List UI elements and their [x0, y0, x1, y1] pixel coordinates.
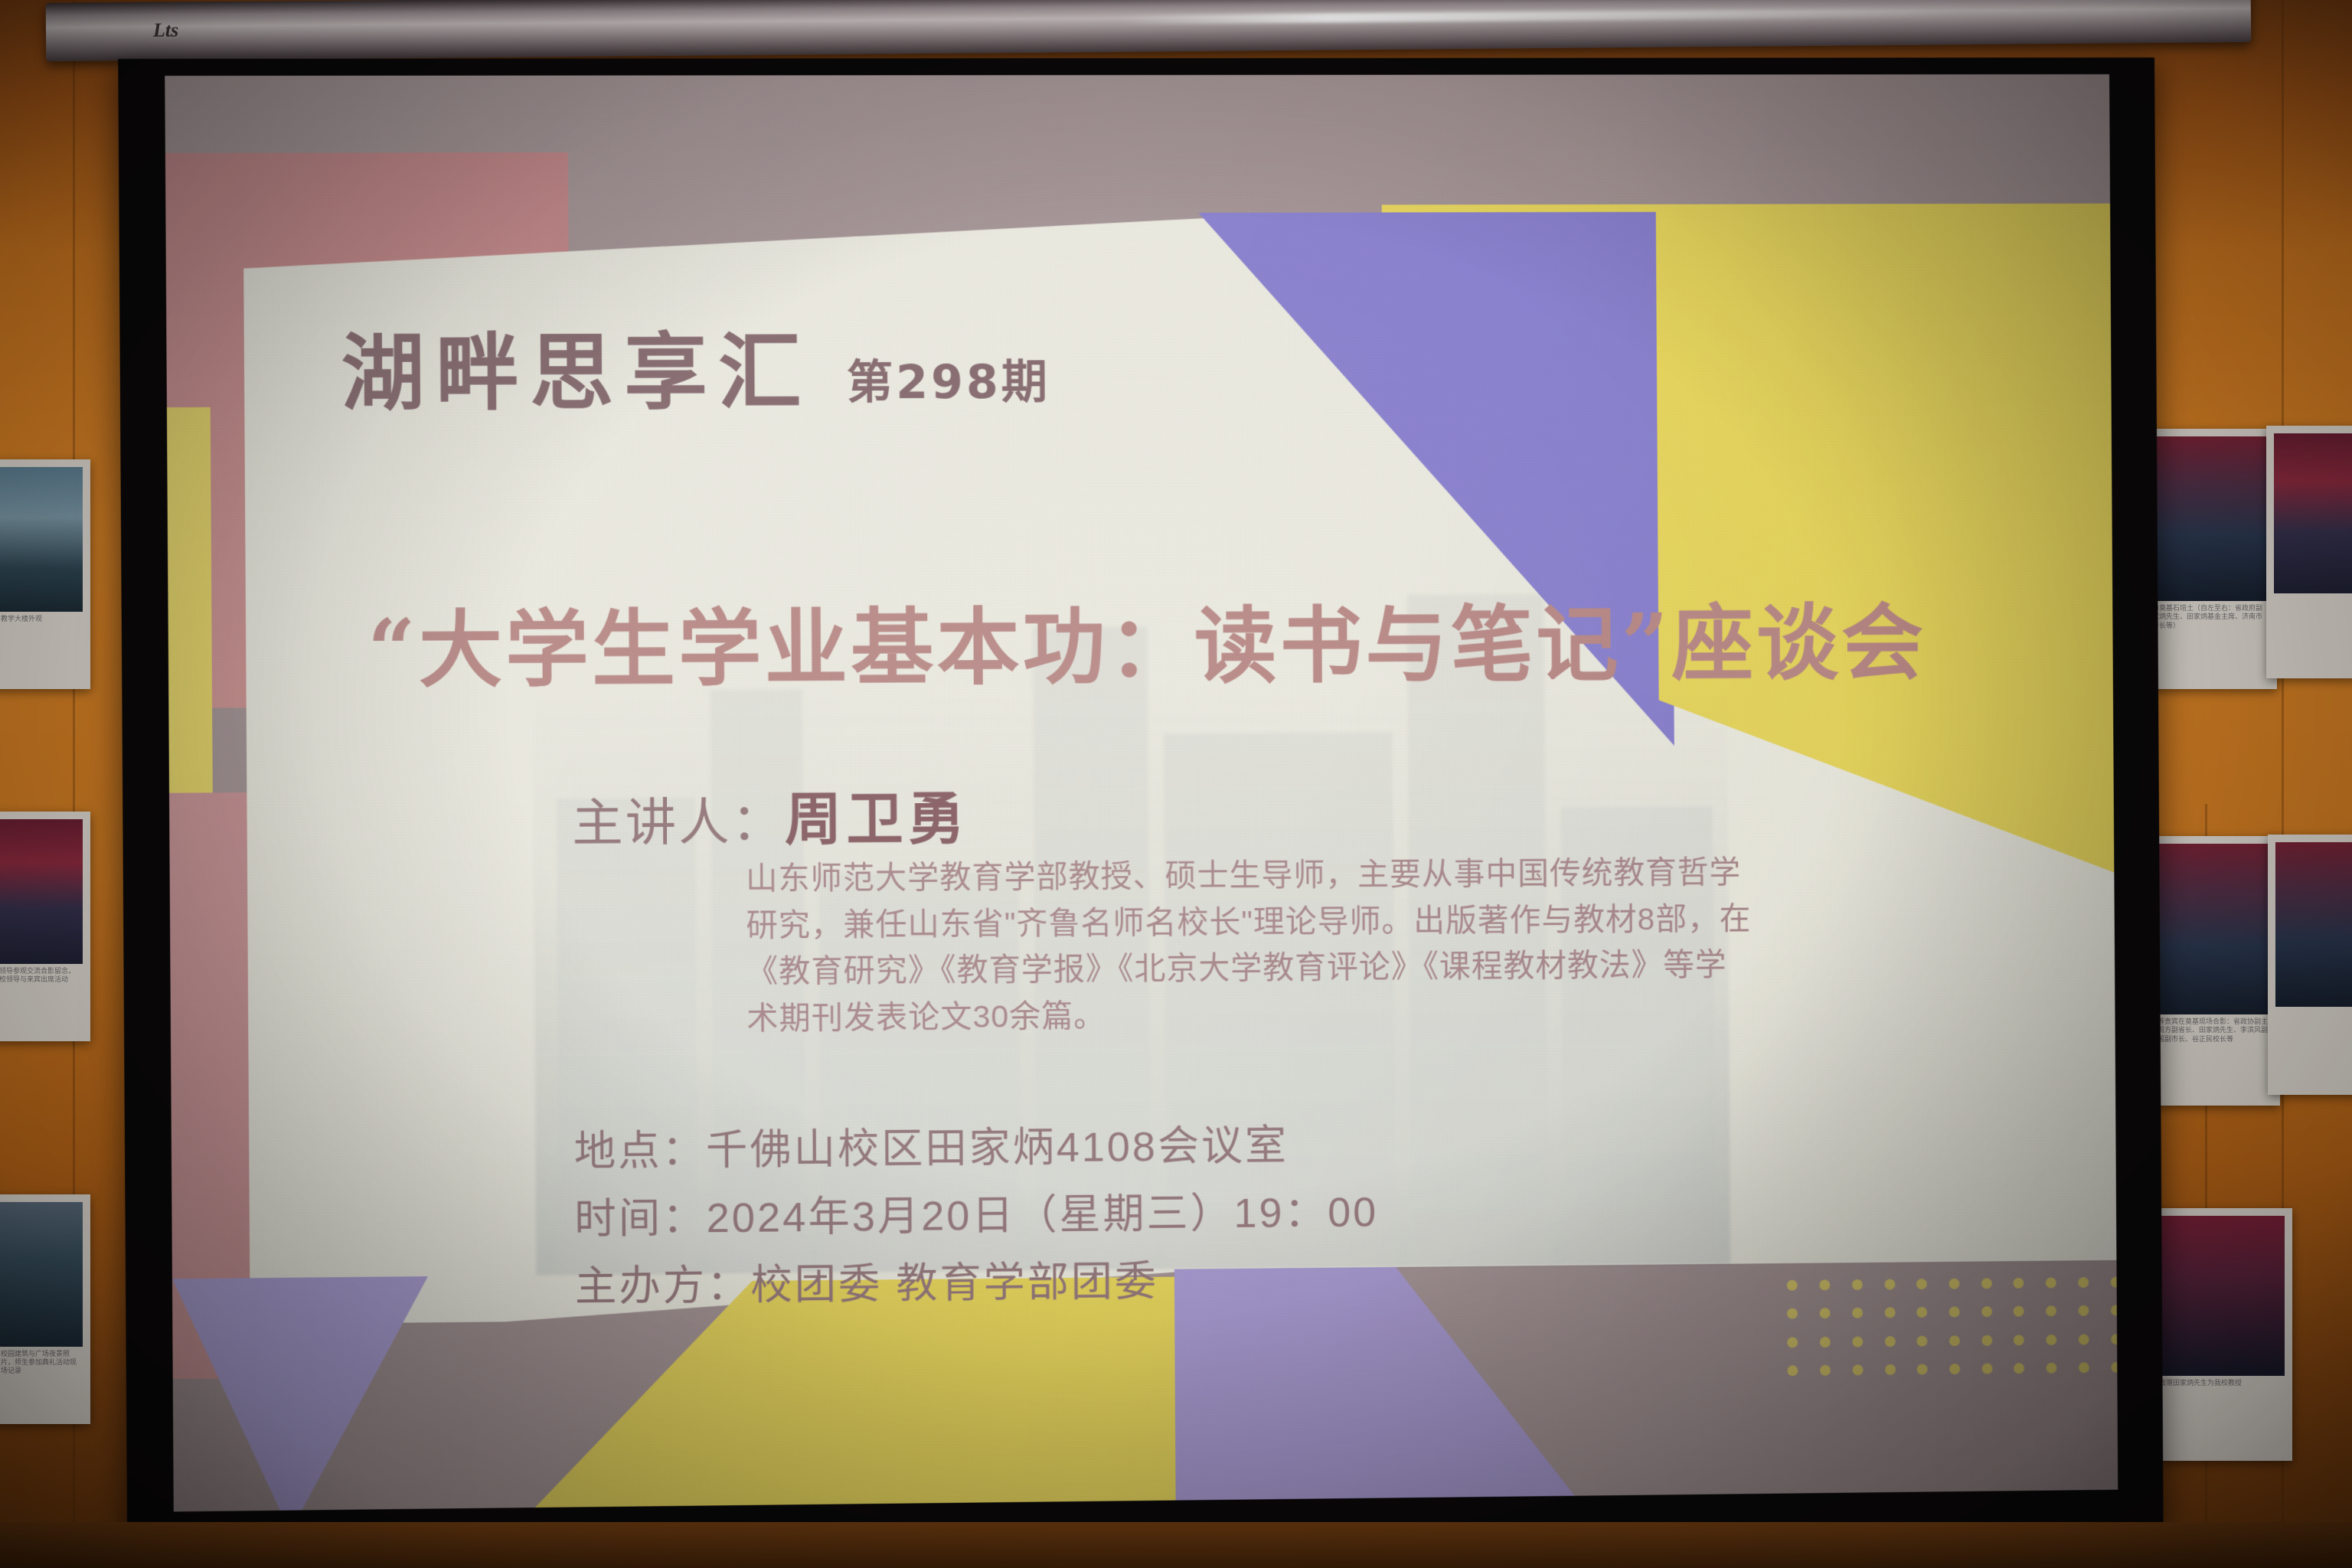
- slide-kicker: 湖畔思享汇: [341, 305, 812, 426]
- photo-caption: 领导参观交流合影留念，校领导与来宾出席活动: [0, 964, 83, 1041]
- floor-strip: [0, 1522, 2352, 1568]
- roller-brand-label: Lts: [153, 18, 178, 41]
- photo-image: [2274, 433, 2352, 593]
- speaker-row: 主讲人：周卫勇: [572, 773, 969, 857]
- slide-main-title: “大学生学业基本功：读书与笔记”座谈会: [242, 577, 2049, 705]
- photo-image: [2275, 842, 2352, 1007]
- photo-image: [0, 1202, 83, 1347]
- event-location: 地点：千佛山校区田家炳4108会议室: [574, 1111, 1289, 1178]
- wall-photo-left-2: 领导参观交流合影留念，校领导与来宾出席活动: [0, 812, 90, 1041]
- event-host: 主办方：校团委 教育学部团委: [575, 1247, 1159, 1314]
- room-scene: 教学大楼外观 领导参观交流合影留念，校领导与来宾出席活动 校园建筑与广场夜景照片…: [0, 0, 2352, 1568]
- wall-photo-left-1: 教学大楼外观: [0, 459, 90, 689]
- speaker-label: 主讲人：: [572, 793, 785, 851]
- roller-highlight: [1118, 8, 1960, 24]
- wall-photo-right-5: [2268, 835, 2352, 1095]
- wall-photo-right-4: [2266, 426, 2352, 678]
- presentation-slide: 湖畔思享汇 第298期 “大学生学业基本功：读书与笔记”座谈会 主讲人：周卫勇 …: [165, 74, 2118, 1511]
- photo-image: [0, 467, 83, 612]
- photo-caption: [2274, 593, 2352, 678]
- slide-shape-yellow-left: [167, 407, 213, 854]
- speaker-bio: 山东师范大学教育学部教授、硕士生导师，主要从事中国传统教育哲学研究，兼任山东省"…: [746, 849, 1756, 1042]
- slide-issue-number: 第298期: [847, 345, 1051, 412]
- projector-screen-roller[interactable]: Lts: [46, 0, 2252, 61]
- photo-caption: 教学大楼外观: [0, 612, 83, 689]
- speaker-name: 周卫勇: [785, 786, 969, 851]
- dot-grid-ornament: [1776, 1268, 2118, 1386]
- wall-photo-left-3: 校园建筑与广场夜景照片，师生参加典礼活动现场记录: [0, 1194, 90, 1424]
- event-time: 时间：2024年3月20日（星期三）19：00: [574, 1178, 1378, 1246]
- projection-screen: 湖畔思享汇 第298期 “大学生学业基本功：读书与笔记”座谈会 主讲人：周卫勇 …: [118, 57, 2163, 1547]
- photo-image: [0, 819, 83, 964]
- photo-caption: 校园建筑与广场夜景照片，师生参加典礼活动现场记录: [0, 1347, 83, 1424]
- photo-caption: [2275, 1007, 2352, 1095]
